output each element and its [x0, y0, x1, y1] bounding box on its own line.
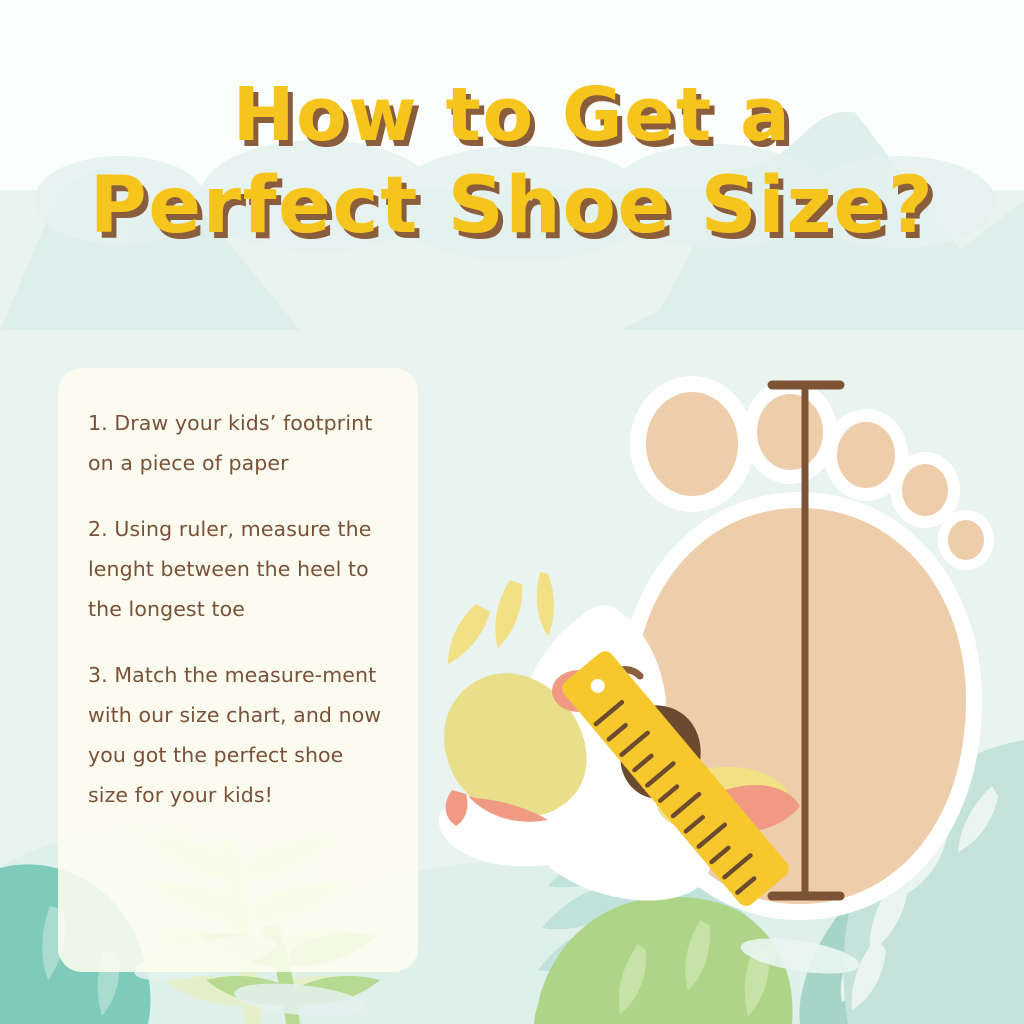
step-2: 2. Using ruler, measure the lenght betwe… — [88, 510, 388, 630]
instructions-card: 1. Draw your kids’ footprint on a piece … — [58, 368, 418, 972]
poster-canvas: How to Get a Perfect Shoe Size? — [0, 0, 1024, 1024]
step-1: 1. Draw your kids’ footprint on a piece … — [88, 404, 388, 484]
cockatoo-crest — [448, 572, 554, 664]
step-3: 3. Match the measure-ment with our size … — [88, 656, 388, 816]
